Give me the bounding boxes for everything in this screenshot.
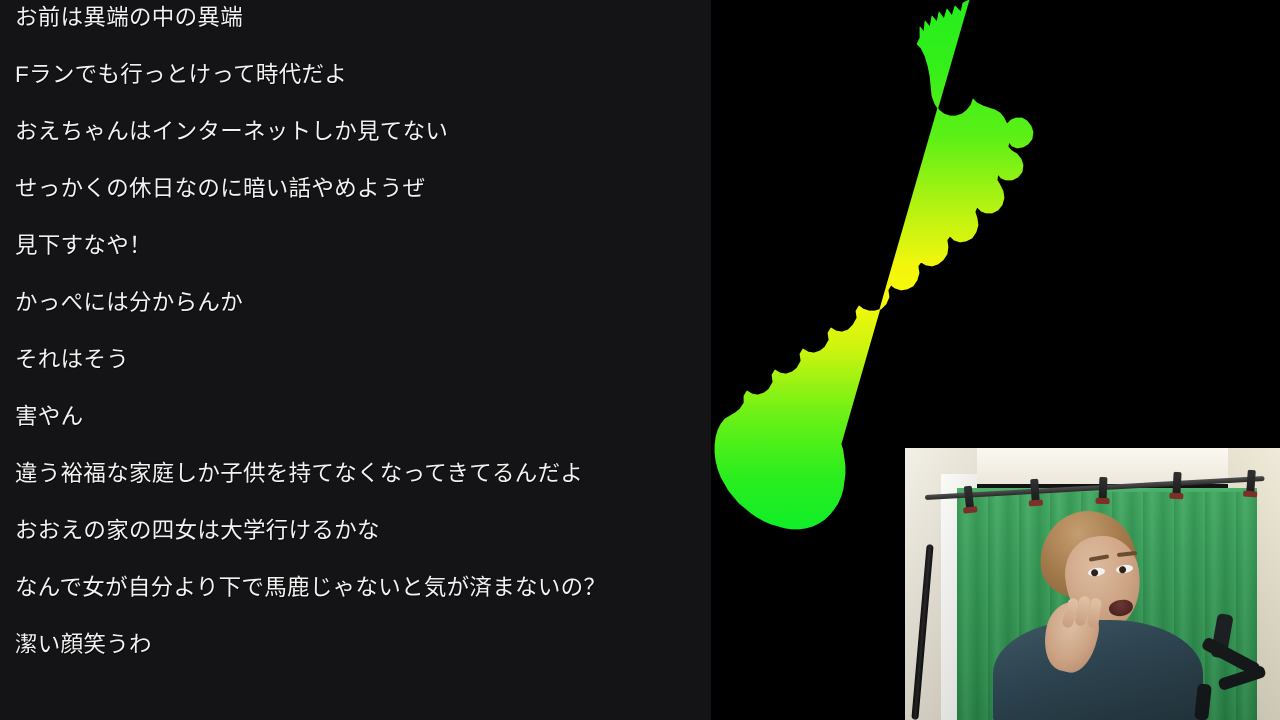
- webcam-overlay[interactable]: [905, 448, 1280, 720]
- comment-list: お前は異端の中の異端Fランでも行っとけって時代だよおえちゃんはインターネットしか…: [15, 4, 701, 688]
- comment-line: おえちゃんはインターネットしか見てない: [15, 118, 701, 146]
- microphone-boom-arm: [1188, 610, 1266, 720]
- comment-line: 潔い顔笑うわ: [15, 631, 701, 659]
- comment-line: 害やん: [15, 403, 701, 431]
- comment-line: 違う裕福な家庭しか子供を持てなくなってきてるんだよ: [15, 460, 701, 488]
- comment-line: お前は異端の中の異端: [15, 4, 701, 32]
- comment-line: Fランでも行っとけって時代だよ: [15, 61, 701, 89]
- comment-panel: お前は異端の中の異端Fランでも行っとけって時代だよおえちゃんはインターネットしか…: [0, 0, 711, 720]
- comment-line: なんで女が自分より下で馬鹿じゃないと気が済まないの？: [15, 574, 701, 602]
- curtain-clip: [1246, 470, 1256, 494]
- webcam-video: [905, 448, 1280, 720]
- comment-line: おおえの家の四女は大学行けるかな: [15, 517, 701, 545]
- comment-line: せっかくの休日なのに暗い話やめようぜ: [15, 175, 701, 203]
- comment-line: 見下すなや！: [15, 232, 701, 260]
- curtain-clip: [1172, 472, 1181, 496]
- curtain-clip: [1030, 479, 1040, 503]
- comment-line: かっぺには分からんか: [15, 289, 701, 317]
- stream-screen: お前は異端の中の異端Fランでも行っとけって時代だよおえちゃんはインターネットしか…: [0, 0, 1280, 720]
- curtain-clip: [1099, 477, 1108, 501]
- comment-line: それはそう: [15, 346, 701, 374]
